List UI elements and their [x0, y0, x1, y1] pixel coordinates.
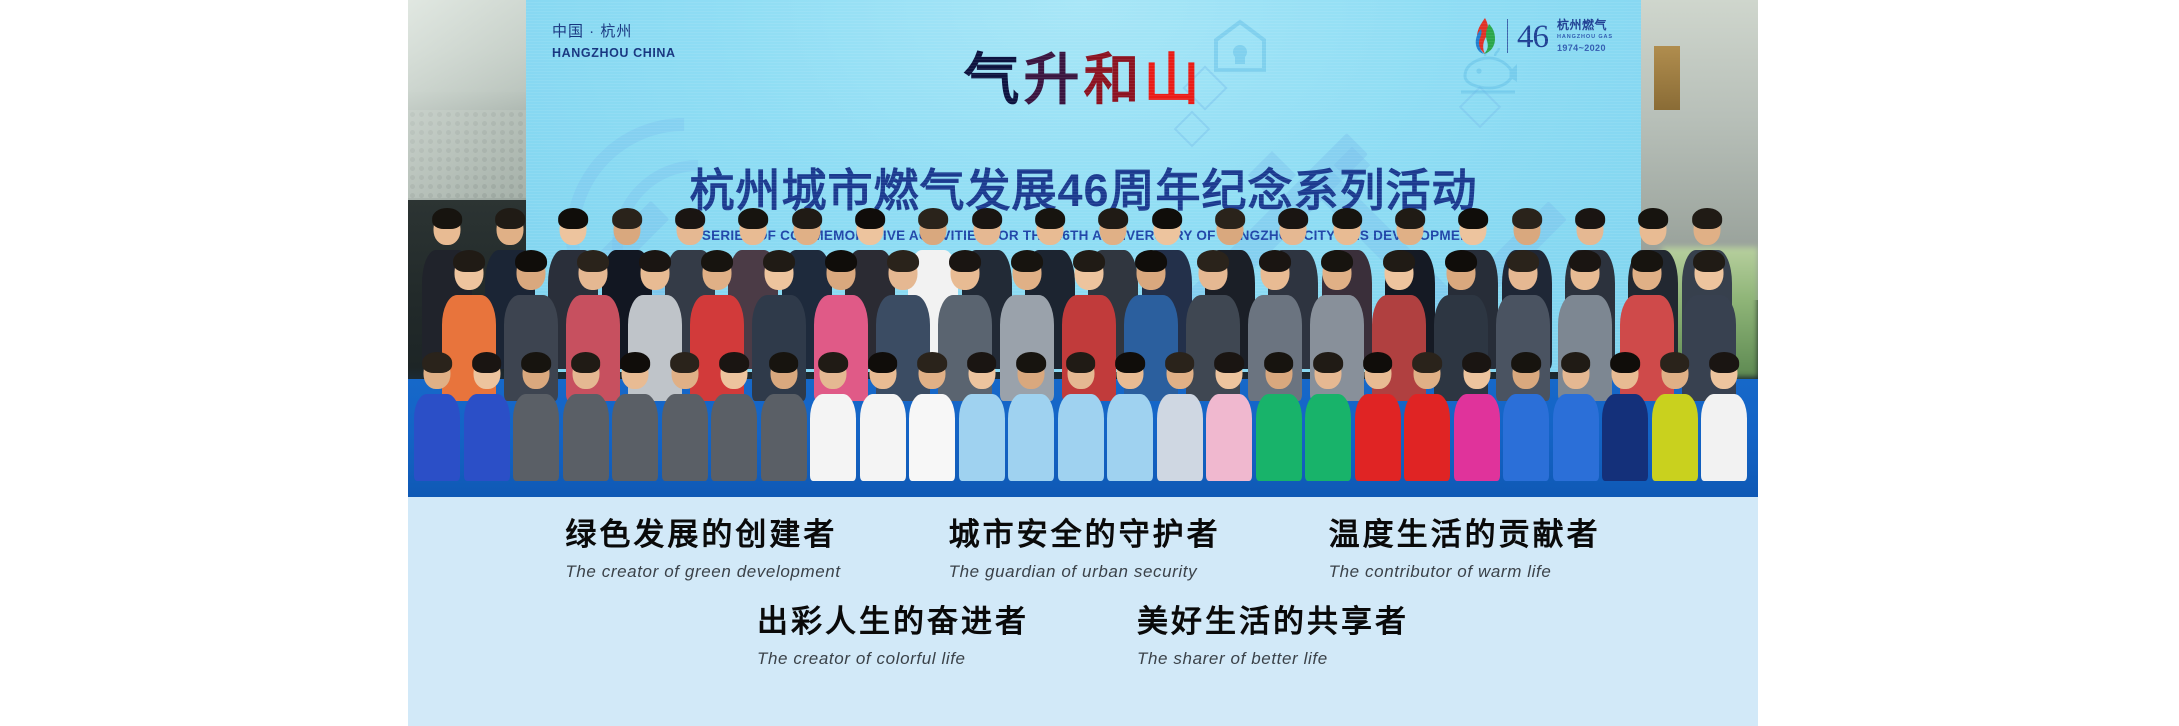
person-hair [1073, 250, 1105, 273]
person-hair [967, 352, 997, 373]
content-column: 中国 · 杭州 HANGZHOU CHINA 46 杭州燃气 HANGZHOU … [408, 0, 1758, 726]
person-hair [1313, 352, 1343, 373]
person-hair [1395, 208, 1425, 229]
person-body [810, 394, 856, 482]
person-body [662, 394, 708, 482]
person-hair [1445, 250, 1477, 273]
person-hair [719, 352, 749, 373]
slogan-cn: 出彩人生的奋进者 [757, 603, 1029, 642]
person-hair [1214, 352, 1244, 373]
person-hair [1569, 250, 1601, 273]
crowd [408, 0, 1758, 497]
slogan-colorful-life: 出彩人生的奋进者 The creator of colorful life [757, 603, 1029, 669]
person-silhouette [1404, 353, 1450, 481]
person-hair [1610, 352, 1640, 373]
person-hair [972, 208, 1002, 229]
person-hair [1115, 352, 1145, 373]
person-hair [472, 352, 502, 373]
person-hair [818, 352, 848, 373]
slogan-urban-security: 城市安全的守护者 The guardian of urban security [949, 516, 1221, 582]
person-hair [769, 352, 799, 373]
person-hair [1066, 352, 1096, 373]
slogan-warm-life: 温度生活的贡献者 The contributor of warm life [1329, 516, 1601, 582]
person-silhouette [1058, 353, 1104, 481]
person-hair [887, 250, 919, 273]
group-photo: 中国 · 杭州 HANGZHOU CHINA 46 杭州燃气 HANGZHOU … [408, 0, 1758, 497]
person-silhouette [414, 353, 460, 481]
slogan-green-development: 绿色发展的创建者 The creator of green developmen… [565, 516, 840, 582]
person-body [1157, 394, 1203, 482]
person-hair [738, 208, 768, 229]
person-hair [1016, 352, 1046, 373]
person-silhouette [563, 353, 609, 481]
person-silhouette [1503, 353, 1549, 481]
person-body [1553, 394, 1599, 482]
person-silhouette [1107, 353, 1153, 481]
person-body [1355, 394, 1401, 482]
page-root: 中国 · 杭州 HANGZHOU CHINA 46 杭州燃气 HANGZHOU … [0, 0, 2179, 726]
person-hair [1259, 250, 1291, 273]
person-silhouette [1701, 353, 1747, 481]
person-hair [701, 250, 733, 273]
person-hair [675, 208, 705, 229]
person-hair [1321, 250, 1353, 273]
person-hair [639, 250, 671, 273]
person-body [1008, 394, 1054, 482]
person-silhouette [612, 353, 658, 481]
person-hair [453, 250, 485, 273]
slogan-en: The sharer of better life [1137, 649, 1409, 669]
person-hair [855, 208, 885, 229]
slogan-better-life: 美好生活的共享者 The sharer of better life [1137, 603, 1409, 669]
person-silhouette [1553, 353, 1599, 481]
person-silhouette [662, 353, 708, 481]
person-body [1454, 394, 1500, 482]
person-hair [422, 352, 452, 373]
person-hair [1383, 250, 1415, 273]
person-hair [1692, 208, 1722, 229]
person-hair [1512, 208, 1542, 229]
person-silhouette [1008, 353, 1054, 481]
person-hair [1709, 352, 1739, 373]
slogan-cn: 温度生活的贡献者 [1329, 516, 1601, 555]
person-hair [917, 352, 947, 373]
person-silhouette [1355, 353, 1401, 481]
person-hair [918, 208, 948, 229]
person-hair [515, 250, 547, 273]
slogan-en: The creator of colorful life [757, 649, 1029, 669]
person-silhouette [1305, 353, 1351, 481]
person-hair [1152, 208, 1182, 229]
slogan-en: The guardian of urban security [949, 562, 1221, 582]
person-hair [1511, 352, 1541, 373]
person-hair [1363, 352, 1393, 373]
person-silhouette [1256, 353, 1302, 481]
person-silhouette [711, 353, 757, 481]
slogan-en: The creator of green development [565, 562, 840, 582]
person-hair [571, 352, 601, 373]
person-hair [1215, 208, 1245, 229]
person-silhouette [1602, 353, 1648, 481]
person-hair [1278, 208, 1308, 229]
slogan-cn: 美好生活的共享者 [1137, 603, 1409, 642]
slogan-en: The contributor of warm life [1329, 562, 1601, 582]
person-hair [620, 352, 650, 373]
person-body [1058, 394, 1104, 482]
slogans-panel: 绿色发展的创建者 The creator of green developmen… [408, 497, 1758, 726]
person-body [1701, 394, 1747, 482]
person-hair [577, 250, 609, 273]
person-hair [1660, 352, 1690, 373]
person-hair [1462, 352, 1492, 373]
person-hair [763, 250, 795, 273]
person-hair [1135, 250, 1167, 273]
person-hair [1412, 352, 1442, 373]
person-body [1602, 394, 1648, 482]
person-hair [1631, 250, 1663, 273]
person-hair [1264, 352, 1294, 373]
person-hair [432, 208, 462, 229]
person-hair [1035, 208, 1065, 229]
person-body [909, 394, 955, 482]
slogan-cn: 绿色发展的创建者 [565, 516, 840, 555]
person-silhouette [1157, 353, 1203, 481]
person-silhouette [860, 353, 906, 481]
person-body [1652, 394, 1698, 482]
person-hair [1197, 250, 1229, 273]
person-body [1404, 394, 1450, 482]
person-body [1256, 394, 1302, 482]
person-hair [1561, 352, 1591, 373]
person-body [1305, 394, 1351, 482]
person-hair [521, 352, 551, 373]
person-hair [1098, 208, 1128, 229]
person-hair [792, 208, 822, 229]
person-hair [1332, 208, 1362, 229]
person-silhouette [464, 353, 510, 481]
person-hair [1011, 250, 1043, 273]
person-hair [1165, 352, 1195, 373]
person-hair [558, 208, 588, 229]
person-body [612, 394, 658, 482]
person-hair [949, 250, 981, 273]
person-silhouette [1206, 353, 1252, 481]
person-silhouette [909, 353, 955, 481]
person-body [1503, 394, 1549, 482]
slogan-cn: 城市安全的守护者 [949, 516, 1221, 555]
person-body [563, 394, 609, 482]
person-hair [670, 352, 700, 373]
person-hair [1638, 208, 1668, 229]
person-hair [1507, 250, 1539, 273]
person-silhouette [1454, 353, 1500, 481]
person-hair [1575, 208, 1605, 229]
person-silhouette [513, 353, 559, 481]
person-body [860, 394, 906, 482]
person-body [1107, 394, 1153, 482]
person-silhouette [1652, 353, 1698, 481]
person-body [761, 394, 807, 482]
person-hair [868, 352, 898, 373]
person-silhouette [761, 353, 807, 481]
person-hair [495, 208, 525, 229]
person-body [414, 394, 460, 482]
person-silhouette [810, 353, 856, 481]
person-hair [1693, 250, 1725, 273]
person-body [711, 394, 757, 482]
person-hair [825, 250, 857, 273]
person-body [959, 394, 1005, 482]
person-hair [612, 208, 642, 229]
person-body [1206, 394, 1252, 482]
slogan-row-2: 出彩人生的奋进者 The creator of colorful life 美好… [408, 582, 1758, 669]
person-body [513, 394, 559, 482]
person-silhouette [959, 353, 1005, 481]
slogan-row-1: 绿色发展的创建者 The creator of green developmen… [408, 497, 1758, 582]
person-hair [1458, 208, 1488, 229]
person-body [464, 394, 510, 482]
